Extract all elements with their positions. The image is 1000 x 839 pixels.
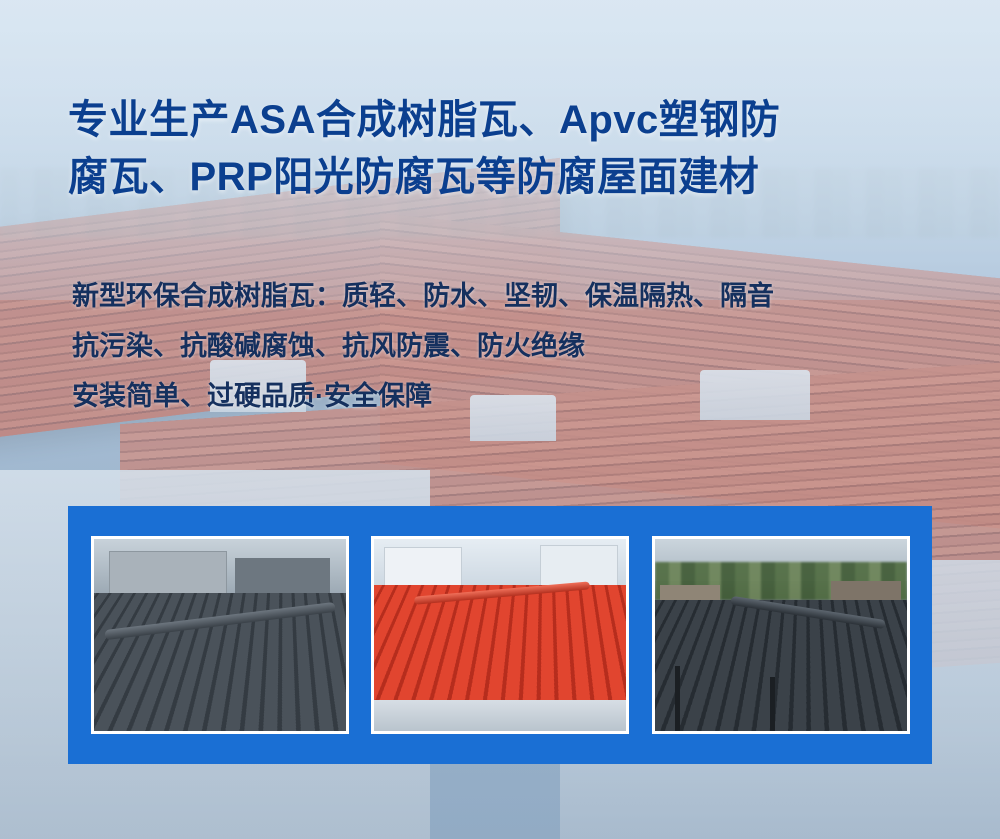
subheadline-line-1: 新型环保合成树脂瓦：质轻、防水、坚韧、保温隔热、隔音 [72,272,972,322]
photo-dark-resin-tile-roof [652,536,910,734]
photo3-support-post-1 [675,666,680,731]
headline-line-1: 专业生产ASA合成树脂瓦、Apvc塑钢防 [68,92,948,149]
banner-content: 专业生产ASA合成树脂瓦、Apvc塑钢防 腐瓦、PRP阳光防腐瓦等防腐屋面建材 … [0,0,1000,839]
photo-red-resin-tile-roof [371,536,629,734]
subheadline-line-2: 抗污染、抗酸碱腐蚀、抗风防震、防火绝缘 [72,322,972,372]
photo-grey-resin-tile-roof [91,536,349,734]
photo3-support-post-2 [770,677,775,731]
headline: 专业生产ASA合成树脂瓦、Apvc塑钢防 腐瓦、PRP阳光防腐瓦等防腐屋面建材 [68,92,948,206]
product-promo-banner: 专业生产ASA合成树脂瓦、Apvc塑钢防 腐瓦、PRP阳光防腐瓦等防腐屋面建材 … [0,0,1000,839]
photo-gallery-strip [68,506,932,764]
photo2-lower-wall [374,700,626,731]
headline-line-2: 腐瓦、PRP阳光防腐瓦等防腐屋面建材 [68,149,948,206]
subheadline: 新型环保合成树脂瓦：质轻、防水、坚韧、保温隔热、隔音 抗污染、抗酸碱腐蚀、抗风防… [72,272,972,422]
subheadline-line-3: 安装简单、过硬品质·安全保障 [72,372,972,422]
